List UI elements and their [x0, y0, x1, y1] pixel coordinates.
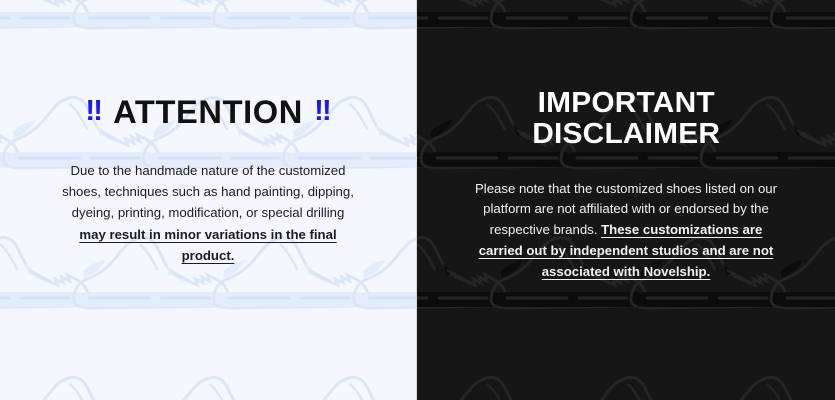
disclaimer-body: Please note that the customized shoes li… [466, 179, 786, 283]
disclaimer-banner: ‼ ATTENTION ‼ Due to the handmade nature… [0, 0, 835, 400]
attention-body: Due to the handmade nature of the custom… [58, 160, 358, 267]
attention-content: ‼ ATTENTION ‼ Due to the handmade nature… [0, 0, 416, 388]
disclaimer-content: IMPORTANT DISCLAIMER Please note that th… [417, 0, 835, 392]
attention-panel: ‼ ATTENTION ‼ Due to the handmade nature… [0, 0, 417, 400]
attention-heading: ‼ ATTENTION ‼ [85, 96, 330, 128]
disclaimer-heading-line2: DISCLAIMER [532, 119, 720, 150]
double-exclamation-icon-right: ‼ [314, 97, 331, 126]
disclaimer-heading: IMPORTANT DISCLAIMER [532, 88, 720, 149]
attention-body-emphasis: may result in minor variations in the fi… [79, 227, 336, 263]
attention-title: ATTENTION [113, 96, 303, 128]
disclaimer-heading-line1: IMPORTANT [532, 88, 720, 119]
double-exclamation-icon-left: ‼ [85, 97, 102, 126]
disclaimer-panel: IMPORTANT DISCLAIMER Please note that th… [417, 0, 835, 400]
attention-body-normal: Due to the handmade nature of the custom… [62, 163, 354, 221]
